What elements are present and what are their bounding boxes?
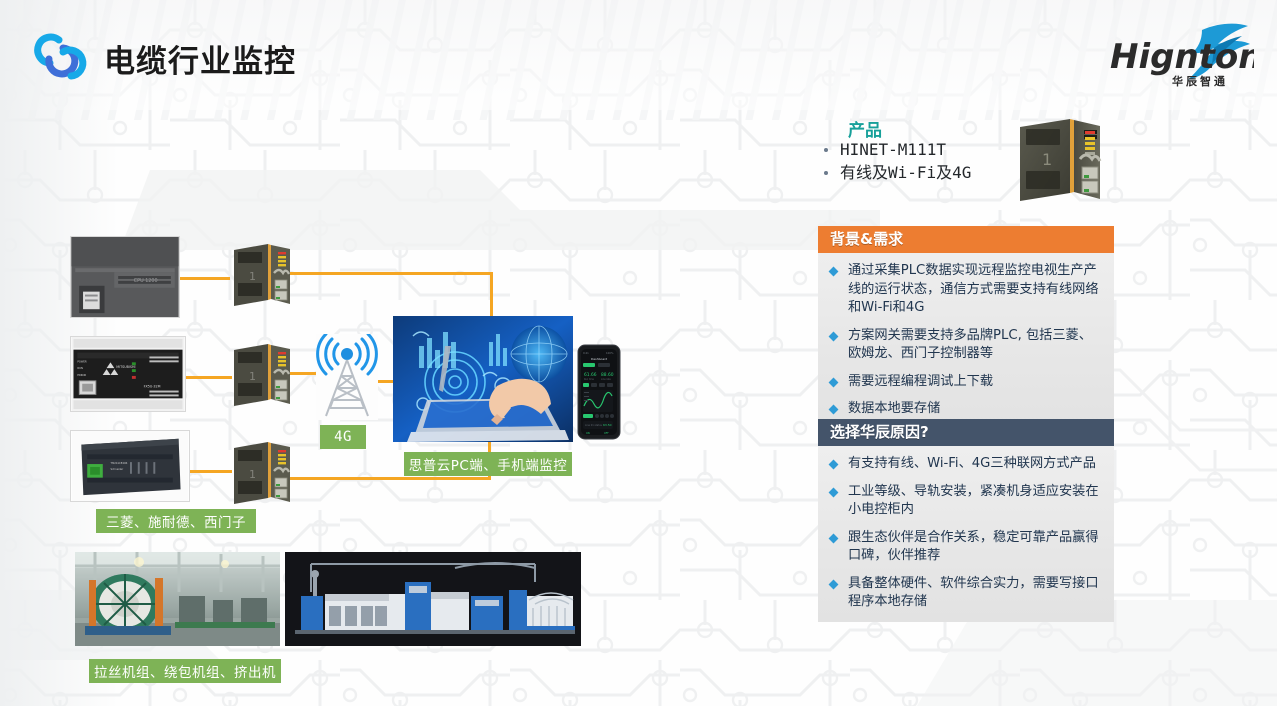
diamond-bullet-icon	[829, 533, 839, 543]
plc-schneider-image: TM241CE40RSchneider	[70, 430, 190, 502]
product-device-image: 1	[1012, 113, 1108, 207]
gateway-3-image: 1	[230, 438, 294, 508]
panel-background-item-2: 方案网关需要支持多品牌PLC, 包括三菱、欧姆龙、西门子控制器等	[826, 327, 1104, 364]
panel-background-item-4: 数据本地要存储	[826, 400, 1104, 419]
panel-background-requirements: 背景&需求 通过采集PLC数据实现远程监控电视生产产线的运行状态，通信方式需要支…	[818, 226, 1114, 429]
panel-reason-title: 选择华辰原因?	[818, 419, 1114, 446]
svg-text:FX5U-32M: FX5U-32M	[144, 385, 161, 389]
svg-text:ERROR: ERROR	[77, 373, 86, 377]
svg-text:POWER: POWER	[77, 359, 87, 363]
panel-background-body: 通过采集PLC数据实现远程监控电视生产产线的运行状态，通信方式需要支持有线网络和…	[818, 253, 1114, 429]
wire-gateway1-to-cloud-h	[288, 272, 493, 275]
diamond-bullet-icon	[829, 460, 839, 470]
panel-background-item-3: 需要远程编程调试上下载	[826, 373, 1104, 392]
diamond-bullet-icon	[829, 579, 839, 589]
brand-name: Hignton	[1110, 37, 1254, 77]
diamond-bullet-icon	[829, 405, 839, 415]
product-heading: 产品	[848, 116, 882, 141]
wire-plc2-to-gateway2	[186, 376, 232, 379]
panel-reason-body: 有支持有线、Wi-Fi、4G三种联网方式产品 工业等级、导轨安装，紧凑机身适应安…	[818, 446, 1114, 622]
panel-background-title: 背景&需求	[818, 226, 1114, 253]
panel-reason-item-4: 具备整体硬件、软件综合实力，需要写接口程序本地存储	[826, 575, 1104, 612]
svg-text:Line rate: Line rate	[601, 378, 611, 381]
label-4g-network: 4G	[320, 425, 366, 449]
svg-text:1: 1	[249, 468, 256, 481]
cable-factory-photo	[75, 552, 280, 646]
svg-text:OFF: OFF	[604, 432, 609, 435]
label-machines: 拉丝机组、绕包机组、挤出机	[89, 659, 281, 683]
panel-reason-item-1: 有支持有线、Wi-Fi、4G三种联网方式产品	[826, 455, 1104, 474]
svg-text:1: 1	[249, 370, 256, 383]
plc-mitsubishi-image: MITSUBISHI FX5U-32M POWERRUNERROR	[70, 336, 186, 412]
diamond-bullet-icon	[829, 267, 839, 277]
panel-reason-item-3: 跟生态伙伴是合作关系，稳定可靠产品赢得口碑，伙伴推荐	[826, 529, 1104, 566]
svg-text:Dashboard: Dashboard	[591, 357, 607, 361]
mobile-monitoring-phone-image: 9:41100% Dashboard 61.6688.60 Run timeLi…	[576, 344, 622, 440]
svg-text:RUN: RUN	[77, 366, 83, 370]
svg-text:TM241CE40R: TM241CE40R	[111, 461, 128, 465]
gateway-1-image: 1	[230, 240, 294, 310]
svg-text:Run time: Run time	[584, 378, 594, 381]
diamond-bullet-icon	[829, 331, 839, 341]
cell-tower-icon	[316, 334, 378, 420]
svg-text:100%: 100%	[606, 351, 614, 355]
svg-text:63.50: 63.50	[603, 423, 612, 427]
label-cloud-monitoring: 思普云PC端、手机端监控	[404, 452, 572, 476]
svg-text:MITSUBISHI: MITSUBISHI	[116, 365, 135, 369]
panel-background-item-1: 通过采集PLC数据实现远程监控电视生产产线的运行状态，通信方式需要支持有线网络和…	[826, 262, 1104, 318]
svg-text:Schneider: Schneider	[111, 467, 125, 471]
svg-text:9:41: 9:41	[583, 351, 589, 355]
svg-text:CPU 1200: CPU 1200	[134, 278, 158, 284]
panel-reason-item-2: 工业等级、导轨安装，紧凑机身适应安装在小电控柜内	[826, 483, 1104, 520]
svg-text:Line 01 status: Line 01 status	[585, 424, 603, 427]
wire-gateway3-to-cloud-h	[288, 477, 490, 480]
diamond-bullet-icon	[829, 377, 839, 387]
cloud-loop-logo-icon	[33, 32, 89, 84]
panel-why-huachen: 选择华辰原因? 有支持有线、Wi-Fi、4G三种联网方式产品 工业等级、导轨安装…	[818, 419, 1114, 622]
plc-siemens-image: CPU 1200	[70, 236, 180, 318]
extruder-line-photo	[285, 552, 581, 646]
wire-plc1-to-gateway1	[180, 277, 230, 280]
brand-subtitle: 华辰智通	[1172, 73, 1228, 89]
wire-plc3-to-gateway3	[190, 470, 232, 473]
gateway-2-image: 1	[230, 340, 294, 410]
label-plc-brands: 三菱、施耐德、西门子	[96, 509, 256, 533]
page-title: 电缆行业监控	[104, 36, 296, 81]
svg-text:1: 1	[249, 270, 256, 283]
svg-text:1: 1	[1042, 150, 1052, 169]
diamond-bullet-icon	[829, 487, 839, 497]
cloud-monitoring-laptop-image	[393, 316, 573, 442]
svg-text:ON: ON	[586, 432, 590, 435]
